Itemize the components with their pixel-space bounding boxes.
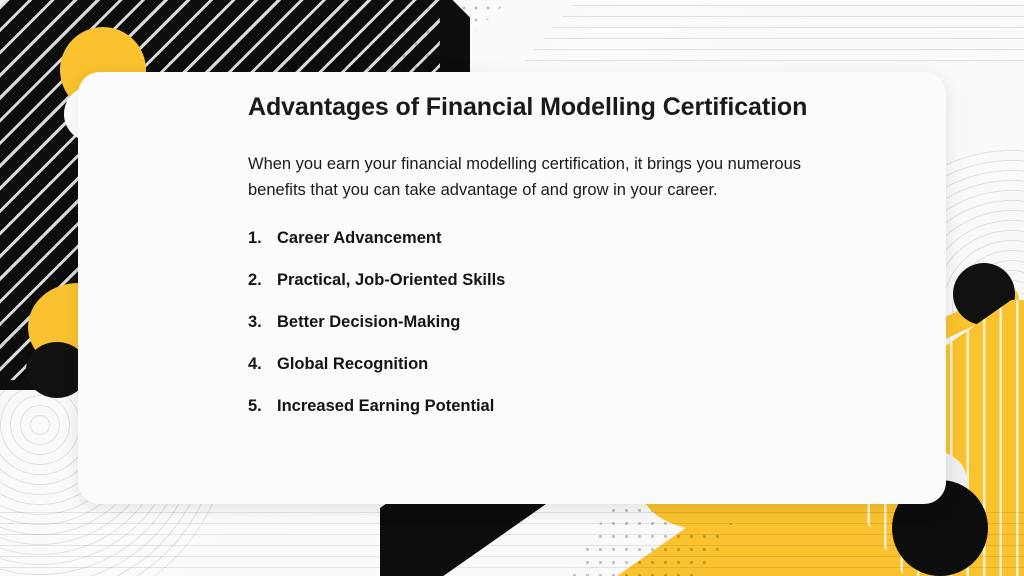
list-item-number: 1. xyxy=(248,229,277,248)
list-item: 5. Increased Earning Potential xyxy=(248,397,876,416)
list-item-label: Better Decision-Making xyxy=(277,313,876,332)
presentation-slide: Advantages of Financial Modelling Certif… xyxy=(0,0,1024,576)
list-item-label: Practical, Job-Oriented Skills xyxy=(277,271,876,290)
slide-body-paragraph: When you earn your financial modelling c… xyxy=(248,152,848,203)
list-item: 3. Better Decision-Making xyxy=(248,313,876,332)
list-item: 2. Practical, Job-Oriented Skills xyxy=(248,271,876,290)
list-item-label: Increased Earning Potential xyxy=(277,397,876,416)
list-item: 4. Global Recognition xyxy=(248,355,876,374)
list-item-number: 2. xyxy=(248,271,277,290)
list-item-number: 5. xyxy=(248,397,277,416)
list-item-number: 4. xyxy=(248,355,277,374)
slide-title: Advantages of Financial Modelling Certif… xyxy=(248,92,876,122)
list-item-label: Career Advancement xyxy=(277,229,876,248)
bottom-horizontal-lines-band xyxy=(0,512,1024,576)
content-card: Advantages of Financial Modelling Certif… xyxy=(78,72,946,504)
top-horizontal-lines-band xyxy=(520,0,1024,66)
card-content-area: Advantages of Financial Modelling Certif… xyxy=(248,92,876,439)
benefits-list: 1. Career Advancement 2. Practical, Job-… xyxy=(248,229,876,416)
list-item: 1. Career Advancement xyxy=(248,229,876,248)
list-item-number: 3. xyxy=(248,313,277,332)
list-item-label: Global Recognition xyxy=(277,355,876,374)
